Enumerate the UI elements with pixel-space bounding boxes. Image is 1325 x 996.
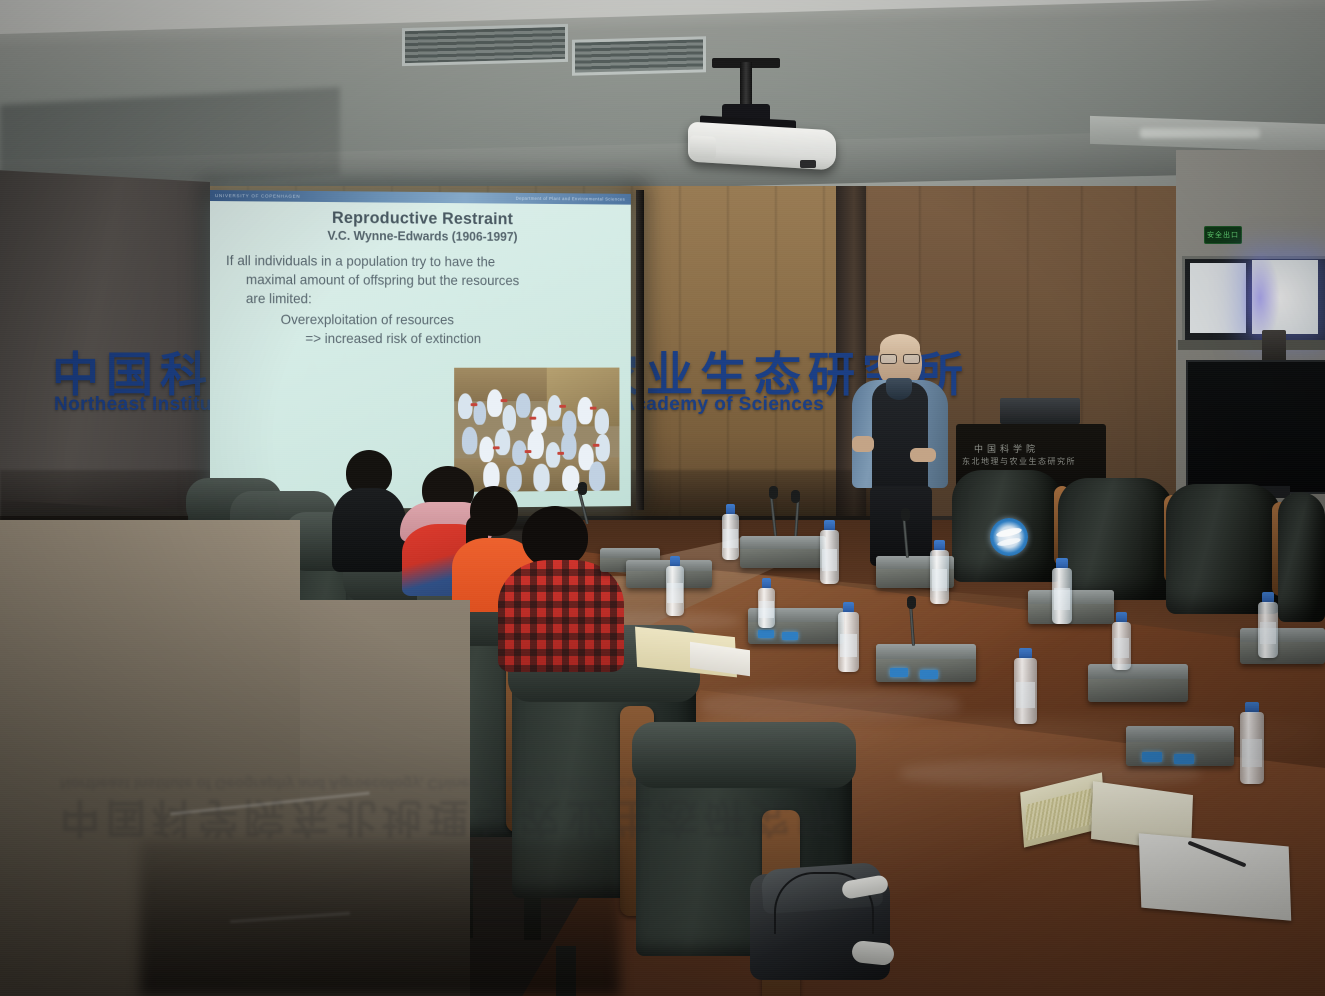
conference-mic-unit[interactable] [876, 644, 976, 682]
conference-room-photo: 中国科学院东北地理与农业生态研究所 Northeast Institute of… [0, 0, 1325, 996]
microphone-head-icon [907, 596, 916, 609]
ceiling-vent-icon [402, 24, 568, 66]
projector-mount-pole [740, 62, 752, 110]
slide-title: Reproductive Restraint [210, 208, 631, 230]
window-pane-left [1190, 263, 1246, 333]
slide-header-left: UNIVERSITY OF COPENHAGEN [210, 193, 300, 199]
water-bottle[interactable] [1112, 612, 1131, 670]
projection-screen: UNIVERSITY OF COPENHAGEN Department of P… [210, 190, 631, 510]
ceiling [0, 0, 1325, 200]
slide-header-right: Department of Plant and Environmental Sc… [516, 196, 631, 202]
loose-paper[interactable] [1139, 833, 1291, 920]
projector-foot [800, 160, 816, 168]
executive-chair[interactable] [952, 470, 1064, 582]
microphone-head-icon [578, 482, 587, 495]
exit-sign-icon: 安全出口 [1204, 226, 1242, 244]
attendee-red-plaid [498, 506, 624, 666]
water-bottle[interactable] [1014, 648, 1037, 724]
ceiling-vent-icon [572, 36, 706, 76]
water-bottle[interactable] [666, 556, 684, 616]
attendee-head [522, 506, 588, 568]
slide-subtitle: V.C. Wynne-Edwards (1906-1997) [210, 228, 631, 245]
water-bottle[interactable] [1240, 702, 1264, 784]
slide-body-line-3: are limited: [226, 290, 616, 310]
podium-label-line2: 东北地理与农业生态研究所 [962, 456, 1076, 467]
table-reflection [700, 690, 960, 720]
window-sill [1178, 340, 1325, 350]
speaker-left-hand [852, 436, 874, 452]
microphone-head-icon [901, 508, 910, 521]
slide-body: If all individuals in a population try t… [226, 252, 616, 349]
backpack-on-chair[interactable] [740, 866, 910, 996]
water-bottle[interactable] [930, 540, 949, 604]
water-bottle[interactable] [838, 602, 859, 672]
cas-logo-icon [990, 518, 1028, 556]
projector-lens [690, 135, 716, 159]
conference-mic-unit[interactable] [740, 536, 826, 568]
executive-chair[interactable] [1058, 478, 1174, 600]
water-bottle[interactable] [1258, 592, 1278, 658]
glasses-icon [880, 354, 920, 362]
conference-mic-unit[interactable] [1126, 726, 1234, 766]
wall-speaker-icon [1262, 330, 1286, 364]
floor-shadow [140, 840, 620, 996]
podium-label-line1: 中国科学院 [974, 442, 1039, 455]
water-bottle[interactable] [820, 520, 839, 584]
conference-mic-unit[interactable] [1088, 664, 1188, 702]
floor-reflection-english: Northeast Institute of Geography and Agr… [60, 775, 320, 792]
speaker-collar [886, 378, 912, 400]
executive-chair[interactable] [1278, 492, 1325, 622]
water-bottle[interactable] [722, 504, 739, 560]
conference-mic-unit[interactable] [1240, 628, 1325, 664]
attendee-torso [332, 488, 406, 572]
ceiling-light [1140, 128, 1260, 138]
water-bottle[interactable] [758, 578, 775, 628]
microphone-head-icon [791, 490, 800, 503]
slide-body-line-5: => increased risk of extinction [226, 330, 616, 349]
speaker-trousers [870, 486, 932, 566]
attendee-dark-jacket [332, 450, 406, 570]
slide-body-line-4: Overexploitation of resources [226, 311, 616, 330]
speaker-right-hand [910, 448, 936, 462]
laptop-on-podium [1000, 398, 1080, 424]
water-bottle[interactable] [1052, 558, 1072, 624]
speaker-presenter [846, 336, 952, 562]
slide-body-line-2: maximal amount of offspring but the reso… [226, 271, 616, 291]
exit-sign-label: 安全出口 [1207, 230, 1239, 240]
microphone-head-icon [769, 486, 778, 499]
screen-edge [636, 190, 644, 510]
wall-television [1186, 360, 1325, 494]
slide-body-line-1: If all individuals in a population try t… [226, 252, 616, 273]
attendee-torso [498, 560, 624, 672]
